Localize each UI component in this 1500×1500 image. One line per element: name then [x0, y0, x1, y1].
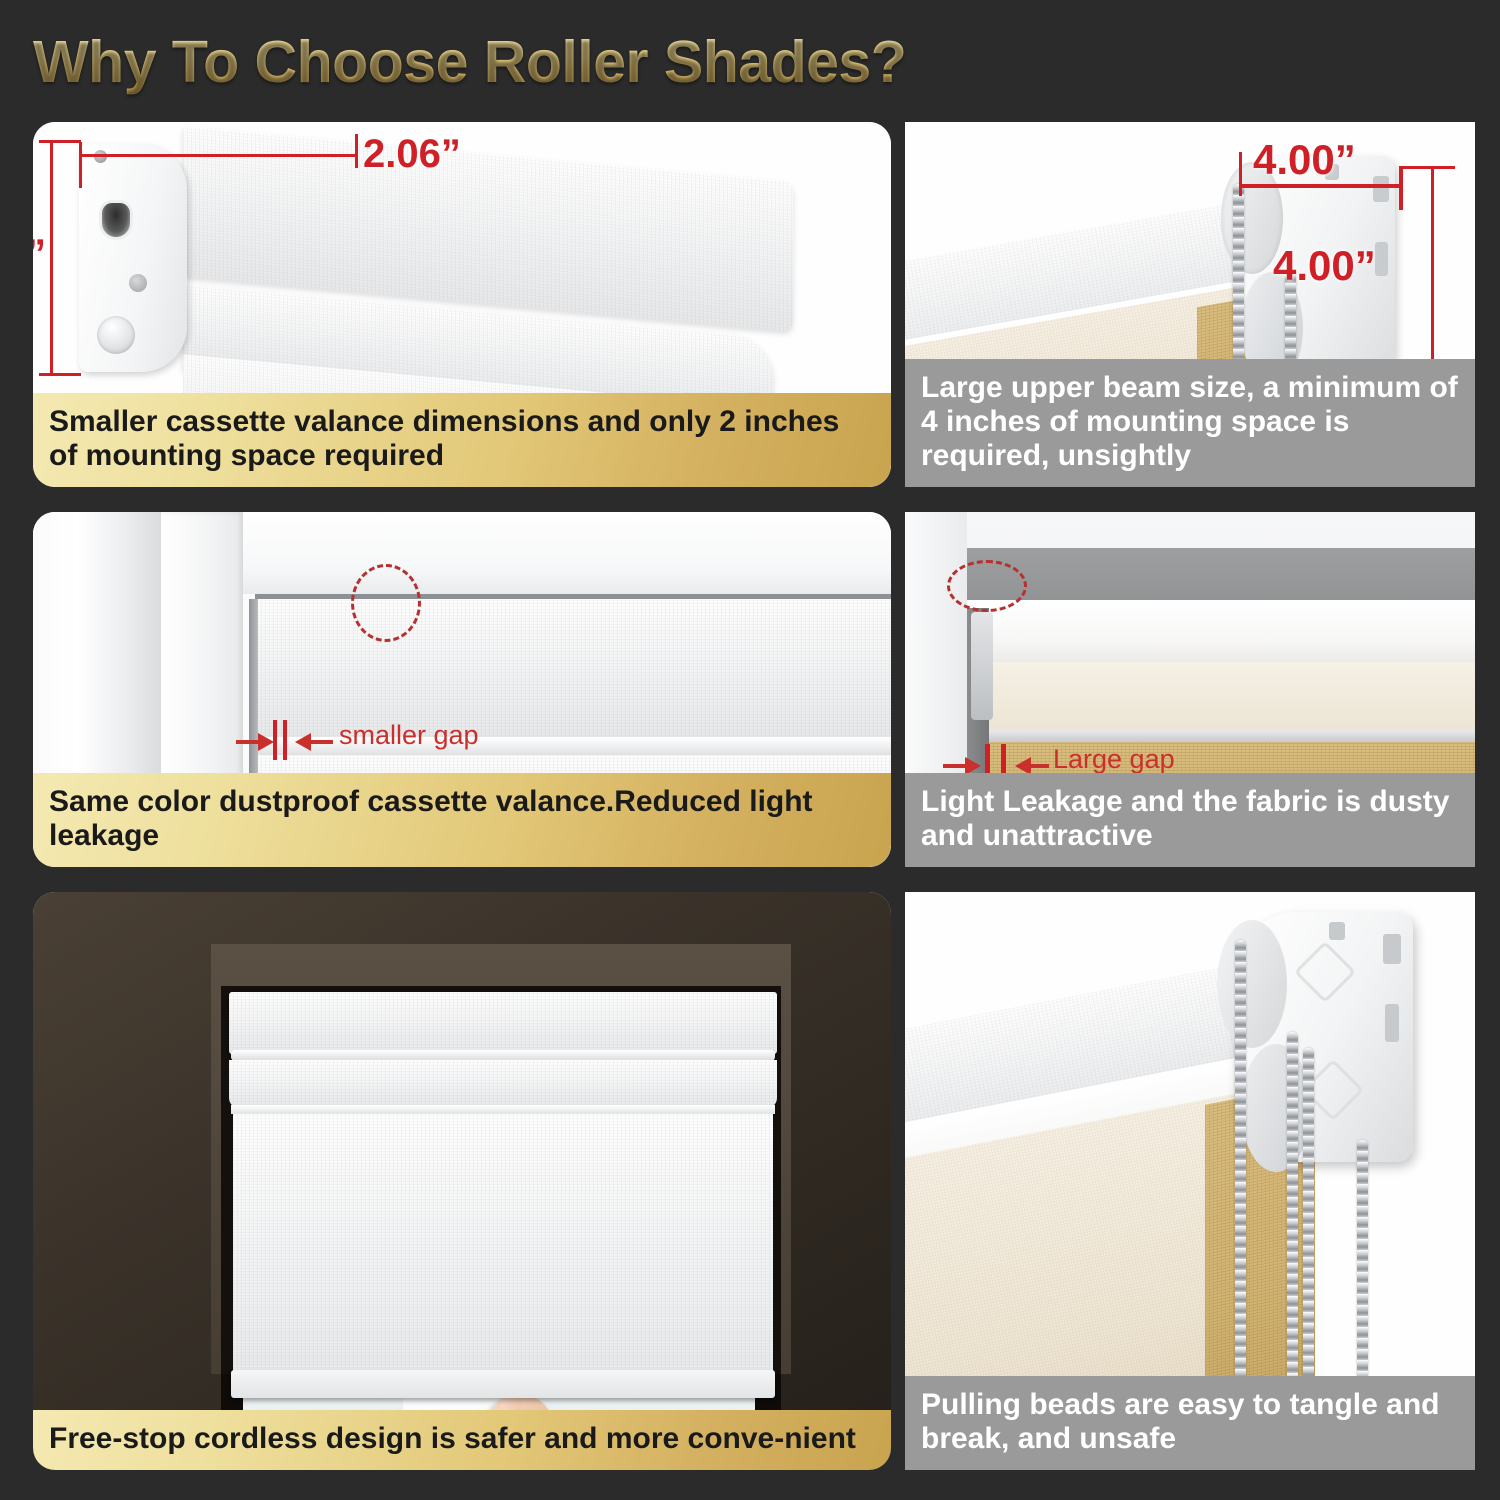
valance-bar — [231, 1105, 775, 1114]
gap-mark-2 — [283, 720, 287, 760]
dim-tick-w-left — [1239, 152, 1242, 196]
infographic-poster: Why To Choose Roller Shades? 2.06” — [0, 0, 1500, 1500]
dimension-label-width: 2.06” — [363, 132, 461, 177]
dimension-label-height: 4.00” — [1273, 242, 1376, 290]
gap-arrow-tail-right — [311, 740, 333, 744]
gap-arrow-right-icon — [258, 733, 274, 751]
bracket-fragment — [971, 612, 993, 720]
gap-callout-label: Large gap — [1053, 744, 1175, 775]
bracket-slot-icon-3 — [1329, 922, 1345, 940]
shade-fabric-upper — [257, 599, 891, 739]
bead-chain-2[interactable] — [1287, 1032, 1298, 1418]
dim-line-width — [1239, 184, 1403, 188]
gap-arrow-tail-left — [236, 740, 258, 744]
shade-rail — [967, 730, 1475, 742]
panel-caption-good-small-gap: Same color dustproof cassette valance.Re… — [33, 773, 891, 867]
cassette-valance — [229, 992, 777, 1054]
dimension-label-width: 4.00” — [1253, 136, 1356, 184]
shade-fabric — [233, 1114, 773, 1386]
dim-line-width — [79, 154, 357, 157]
bracket-socket-icon — [99, 200, 133, 240]
valance-roll — [229, 1060, 777, 1108]
bracket-slot-icon-2 — [1385, 1004, 1399, 1042]
panel-bad-beam-size: 4.00” 4.00” Large upper beam size, a min… — [905, 122, 1475, 487]
roller-endcap-lower — [1241, 1044, 1311, 1172]
dim-line-height — [1431, 166, 1434, 370]
highlight-circle-icon — [947, 560, 1027, 612]
panel-good-cordless: Free-stop cordless design is safer and m… — [33, 892, 891, 1470]
bead-chain-3[interactable] — [1303, 1048, 1314, 1418]
panel-caption-good-cassette-size: Smaller cassette valance dimensions and … — [33, 393, 891, 487]
panel-caption-bad-beads: Pulling beads are easy to tangle and bre… — [905, 1376, 1475, 1470]
panel-bad-large-gap: Large gap Light Leakage and the fabric i… — [905, 512, 1475, 867]
dim-tick-left — [79, 142, 82, 188]
highlight-circle-icon — [351, 564, 421, 642]
dim-tick-top — [39, 140, 81, 143]
roller-endcap-upper — [1217, 920, 1287, 1048]
fabric-cream-band — [967, 662, 1475, 734]
dim-tick-w-right — [1399, 166, 1403, 210]
gap-mark-1 — [273, 720, 277, 760]
dim-tick-bottom — [39, 373, 81, 376]
bracket-slot-icon-1 — [1373, 176, 1389, 202]
hem-bar[interactable] — [231, 1370, 775, 1398]
panel-image-room-scene — [33, 892, 891, 1470]
panel-bad-beads: Pulling beads are easy to tangle and bre… — [905, 892, 1475, 1470]
screw-icon-mid — [129, 274, 147, 292]
panel-good-small-gap: smaller gap Same color dustproof cassett… — [33, 512, 891, 867]
bracket-slot-icon-2 — [1375, 242, 1388, 276]
panel-caption-bad-beam-size: Large upper beam size, a minimum of 4 in… — [905, 359, 1475, 487]
gap-arrow-left-icon — [295, 733, 311, 751]
panel-caption-good-cordless: Free-stop cordless design is safer and m… — [33, 1410, 891, 1470]
dim-tick-h-top — [1399, 166, 1455, 169]
window-head-jamb — [243, 512, 891, 594]
dim-line-height — [50, 140, 53, 376]
bracket-slot-icon-1 — [1383, 934, 1401, 964]
gap-arrow-tail-right — [1031, 764, 1049, 768]
bracket-knob-icon — [97, 316, 135, 354]
comparison-grid: 2.06” 5.49” Smaller cassette valance dim… — [0, 0, 1500, 1500]
panel-good-cassette-size: 2.06” 5.49” Smaller cassette valance dim… — [33, 122, 891, 487]
gap-arrow-tail-left — [943, 764, 965, 768]
dim-tick-right — [355, 134, 358, 168]
panel-caption-bad-large-gap: Light Leakage and the fabric is dusty an… — [905, 773, 1475, 867]
bead-chain-1[interactable] — [1235, 940, 1246, 1418]
dimension-label-height: 5.49” — [33, 232, 46, 277]
gap-callout-label: smaller gap — [339, 720, 479, 751]
